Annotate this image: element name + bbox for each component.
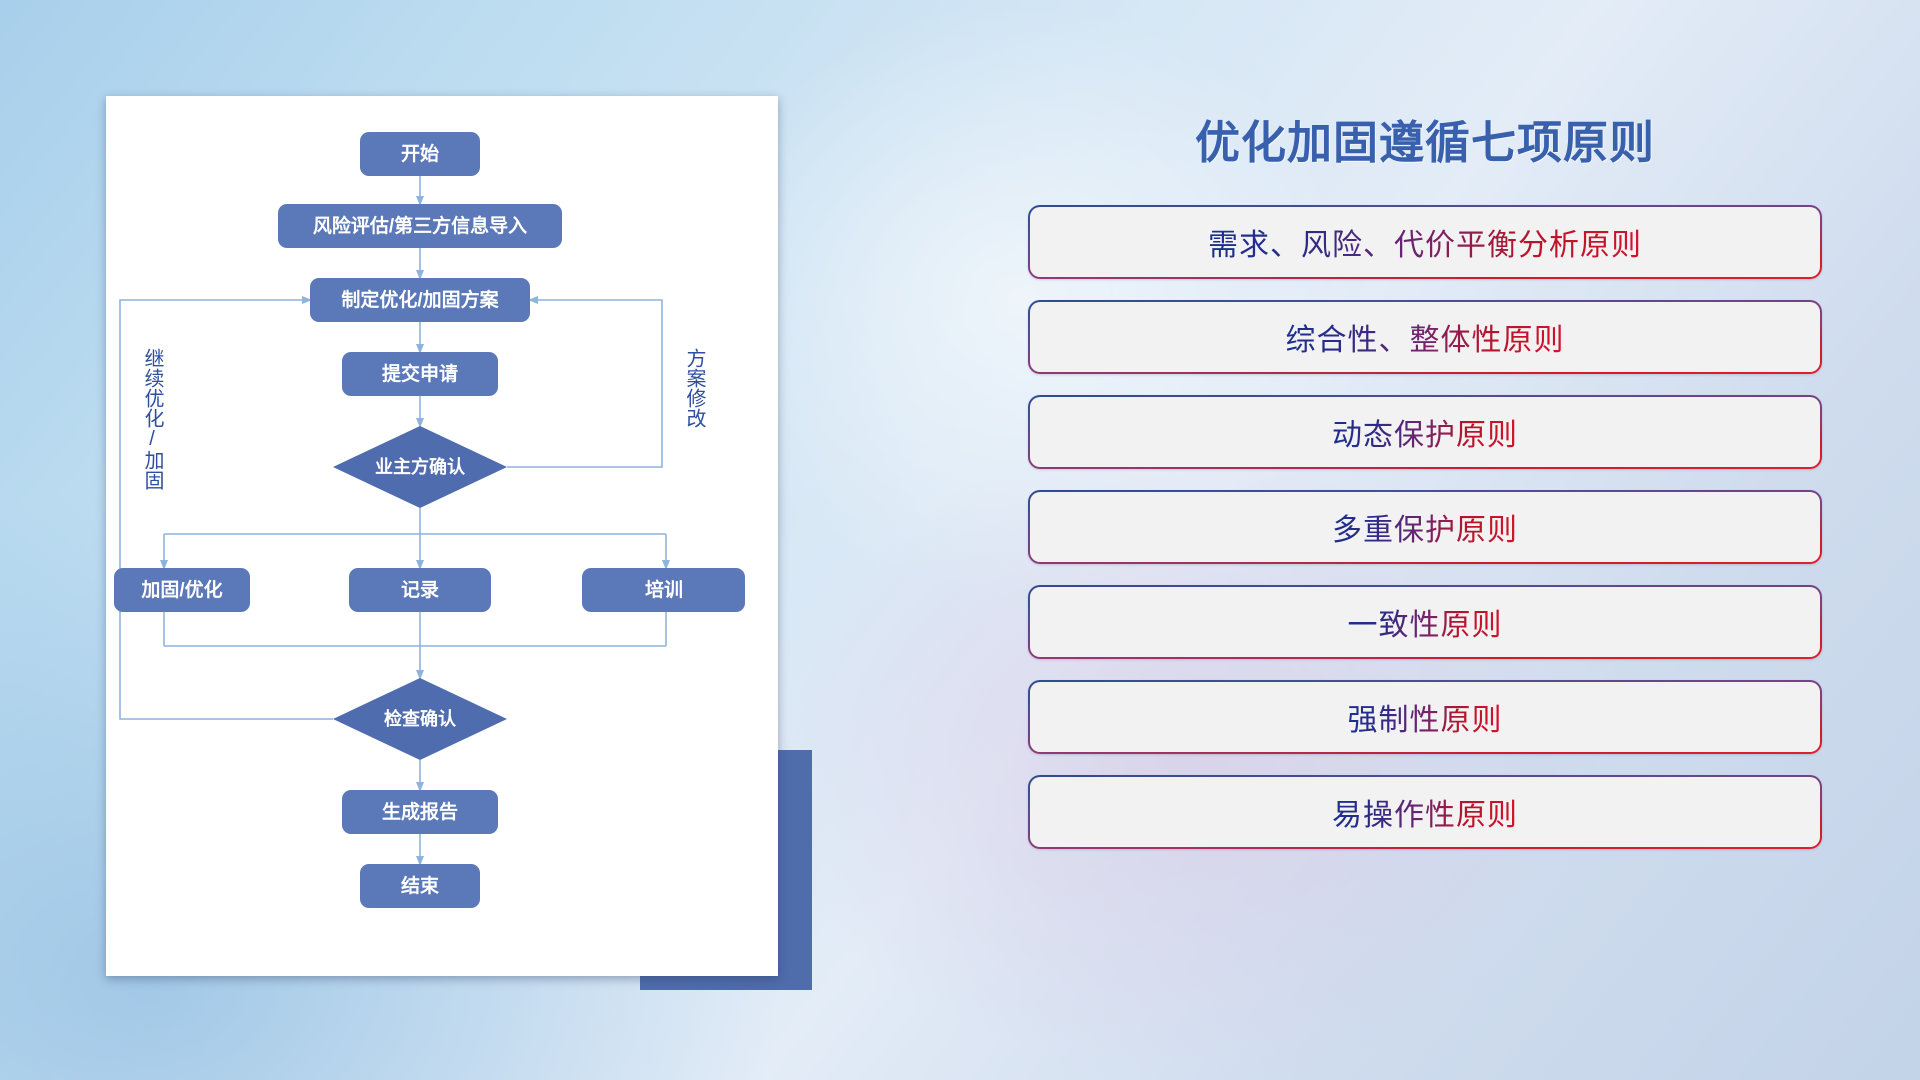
principle-card-label: 动态保护原则 (1332, 410, 1518, 454)
flow-node-owner-confirm[interactable]: 业主方确认 (333, 426, 507, 508)
connector-loop-right (507, 300, 662, 467)
flow-node-risk-label: 风险评估/第三方信息导入 (313, 214, 527, 237)
flow-node-submit-label: 提交申请 (382, 362, 458, 385)
principle-card[interactable]: 综合性、整体性原则 (1028, 300, 1822, 374)
principle-card-inner: 综合性、整体性原则 (1030, 302, 1820, 372)
flow-node-plan-label: 制定优化/加固方案 (341, 288, 499, 311)
principle-card-label: 综合性、整体性原则 (1286, 315, 1565, 359)
principle-card[interactable]: 易操作性原则 (1028, 775, 1822, 849)
panel-title: 优化加固遵循七项原则 (1010, 106, 1840, 171)
flowchart-card: 开始 风险评估/第三方信息导入 制定优化/加固方案 提交申请 业主方确认 (106, 96, 778, 976)
principle-card-inner: 强制性原则 (1030, 682, 1820, 752)
principle-card-label: 易操作性原则 (1332, 790, 1518, 834)
principle-card-label: 多重保护原则 (1332, 505, 1518, 549)
flow-node-record-label: 记录 (401, 579, 439, 601)
flowchart-diagram: 开始 风险评估/第三方信息导入 制定优化/加固方案 提交申请 业主方确认 (106, 96, 778, 976)
flow-node-plan[interactable]: 制定优化/加固方案 (310, 278, 530, 322)
edge-label-continue-optimize: 继续优化/加固 (141, 348, 164, 490)
flow-node-submit[interactable]: 提交申请 (342, 352, 498, 396)
principle-card[interactable]: 一致性原则 (1028, 585, 1822, 659)
flow-node-start[interactable]: 开始 (360, 132, 480, 176)
flow-node-end[interactable]: 结束 (360, 864, 480, 908)
principle-card-inner: 易操作性原则 (1030, 777, 1820, 847)
flow-node-end-label: 结束 (401, 874, 440, 897)
principles-panel: 优化加固遵循七项原则 需求、风险、代价平衡分析原则 综合性、整体性原则 动态保护… (1010, 88, 1840, 1018)
principle-card[interactable]: 强制性原则 (1028, 680, 1822, 754)
principle-card-inner: 动态保护原则 (1030, 397, 1820, 467)
principle-card[interactable]: 多重保护原则 (1028, 490, 1822, 564)
flow-node-training-label: 培训 (645, 578, 683, 601)
edge-label-plan-revision: 方案修改 (683, 348, 706, 428)
principle-card-label: 强制性原则 (1348, 695, 1503, 739)
flow-node-reinforce[interactable]: 加固/优化 (114, 568, 250, 612)
flow-node-reinforce-label: 加固/优化 (140, 578, 222, 601)
principle-card-inner: 多重保护原则 (1030, 492, 1820, 562)
flow-node-check-confirm[interactable]: 检查确认 (333, 678, 507, 760)
flow-node-record[interactable]: 记录 (349, 568, 491, 612)
slide-canvas: 开始 风险评估/第三方信息导入 制定优化/加固方案 提交申请 业主方确认 (0, 0, 1920, 1080)
principle-card-label: 一致性原则 (1348, 600, 1503, 644)
flow-node-check-confirm-label: 检查确认 (384, 708, 457, 729)
flow-node-owner-confirm-label: 业主方确认 (375, 456, 466, 477)
principle-card-inner: 一致性原则 (1030, 587, 1820, 657)
flow-node-training[interactable]: 培训 (582, 568, 745, 612)
flow-node-start-label: 开始 (401, 142, 439, 165)
flow-node-risk[interactable]: 风险评估/第三方信息导入 (278, 204, 562, 248)
principle-card[interactable]: 需求、风险、代价平衡分析原则 (1028, 205, 1822, 279)
flow-node-report[interactable]: 生成报告 (342, 790, 498, 834)
principle-card-label: 需求、风险、代价平衡分析原则 (1208, 220, 1642, 264)
principle-card-list: 需求、风险、代价平衡分析原则 综合性、整体性原则 动态保护原则 多重保护原则 (1010, 205, 1840, 849)
flow-node-report-label: 生成报告 (382, 800, 458, 823)
principle-card[interactable]: 动态保护原则 (1028, 395, 1822, 469)
principle-card-inner: 需求、风险、代价平衡分析原则 (1030, 207, 1820, 277)
